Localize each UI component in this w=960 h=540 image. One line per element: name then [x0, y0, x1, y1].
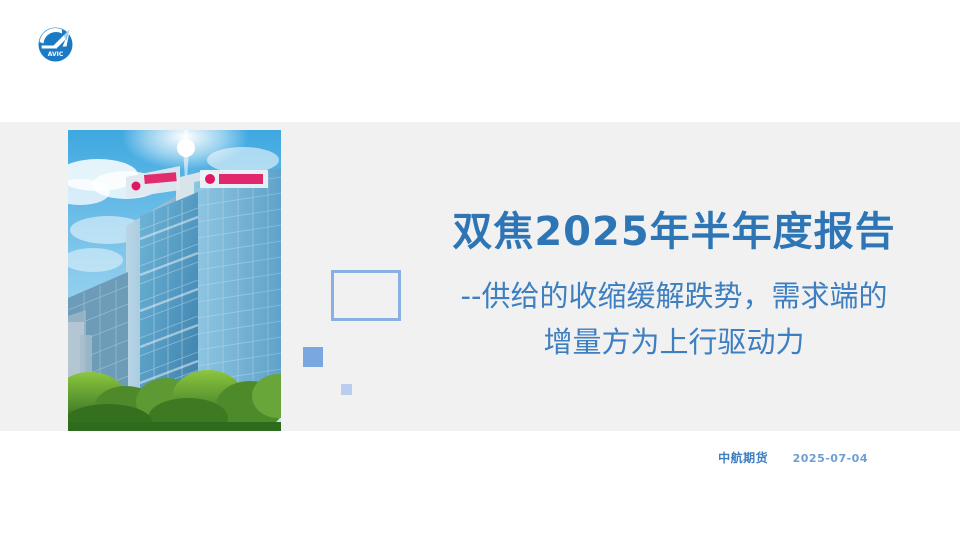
page-subtitle-line2: 增量方为上行驱动力 [400, 319, 948, 365]
decorative-filled-square-medium [303, 347, 323, 367]
footer: 中航期货 2025-07-04 [600, 449, 868, 467]
avic-logo-icon: AVIC [32, 21, 79, 68]
decorative-filled-square-small [341, 384, 352, 395]
avic-logo-text: AVIC [48, 51, 64, 58]
avic-building-photo [68, 130, 281, 431]
rooftop-sign-right [200, 170, 268, 188]
background-band-top [0, 0, 960, 122]
page-subtitle-line1: --供给的收缩缓解跌势，需求端的 [400, 273, 948, 319]
title-block: 双焦2025年半年度报告 --供给的收缩缓解跌势，需求端的 增量方为上行驱动力 [400, 205, 948, 365]
footer-date: 2025-07-04 [793, 452, 868, 465]
presentation-slide: AVIC [0, 0, 960, 540]
decorative-outline-square [331, 270, 401, 321]
page-title: 双焦2025年半年度报告 [400, 205, 948, 259]
background-band-bottom [0, 431, 960, 540]
footer-organization: 中航期货 [718, 451, 768, 465]
page-subtitle: --供给的收缩缓解跌势，需求端的 增量方为上行驱动力 [400, 273, 948, 365]
